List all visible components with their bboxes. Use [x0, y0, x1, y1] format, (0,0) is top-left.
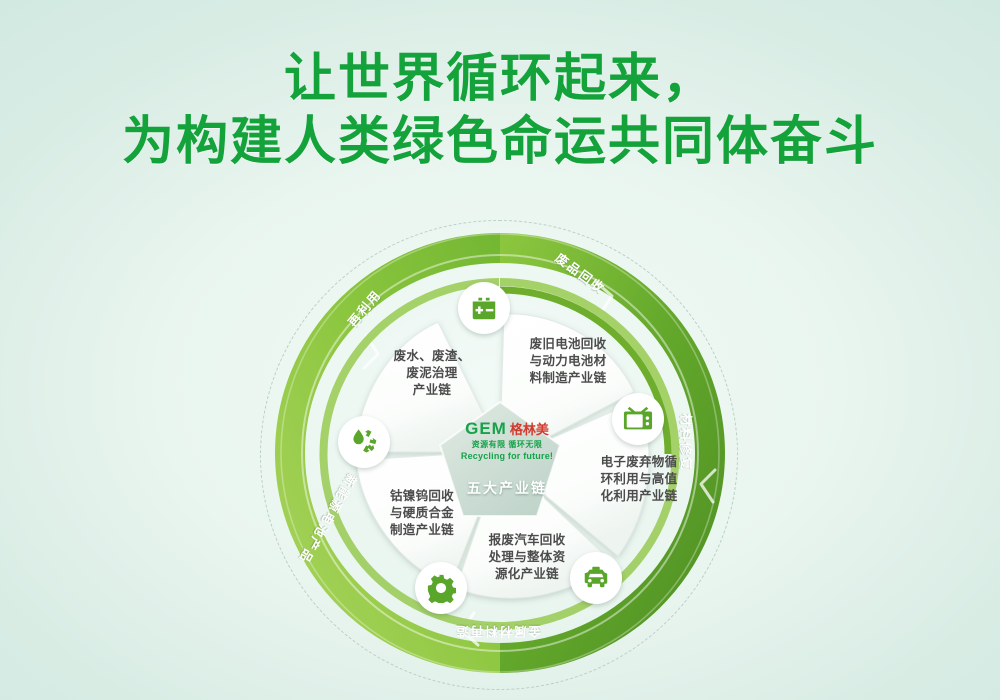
- petal-label-line: 报废汽车回收: [473, 532, 581, 549]
- petal-label-line: 源化产业链: [473, 566, 581, 583]
- petal-label-line: 化利用产业链: [585, 488, 693, 505]
- petal-label-line: 废水、废渣、: [378, 348, 486, 365]
- logo-mark-chinese: 格林美: [510, 422, 549, 437]
- petal-label-line: 与动力电池材: [514, 353, 622, 370]
- car-icon: [581, 563, 611, 593]
- logo-slogan-english: Recycling for future!: [453, 451, 561, 462]
- battery-icon: [469, 293, 499, 323]
- petal-label-line: 环利用与高值: [585, 471, 693, 488]
- petal-label-waste-water: 废水、废渣、 废泥治理 产业链: [378, 348, 486, 399]
- petal-label-battery: 废旧电池回收 与动力电池材 料制造产业链: [514, 336, 622, 387]
- logo-mark-latin: GEM: [465, 419, 507, 438]
- petal-label-line: 与硬质合金: [368, 505, 476, 522]
- poster-canvas: 让世界循环起来， 为构建人类绿色命运共同体奋斗: [0, 0, 1000, 700]
- center-logo: GEM格林美 资源有限 循环无限 Recycling for future!: [453, 420, 561, 462]
- water-recycle-icon: [349, 427, 379, 457]
- title-line-2: 为构建人类绿色命运共同体奋斗: [0, 111, 1000, 174]
- circular-industry-chain-diagram: 废旧电池回收 与动力电池材 料制造产业链 电子废弃物循 环利用与高值 化利用产业…: [260, 220, 740, 690]
- petal-label-line: 废泥治理: [378, 365, 486, 382]
- title-line-1: 让世界循环起来，: [0, 48, 1000, 111]
- icon-bubble-television[interactable]: [612, 393, 664, 445]
- petal-label-line: 制造产业链: [368, 522, 476, 539]
- page-title: 让世界循环起来， 为构建人类绿色命运共同体奋斗: [0, 48, 1000, 175]
- petal-label-line: 产业链: [378, 382, 486, 399]
- center-caption: 五大产业链: [453, 478, 561, 498]
- logo-wordmark: GEM格林美: [453, 420, 561, 439]
- icon-bubble-gear[interactable]: [415, 562, 467, 614]
- icon-bubble-water-recycle[interactable]: [338, 416, 390, 468]
- icon-bubble-battery[interactable]: [458, 282, 510, 334]
- petal-label-vehicle: 报废汽车回收 处理与整体资 源化产业链: [473, 532, 581, 583]
- gear-icon: [426, 573, 456, 603]
- petal-label-line: 废旧电池回收: [514, 336, 622, 353]
- ring-label-material-repair: 材料修复: [678, 413, 697, 471]
- television-icon: [623, 404, 653, 434]
- petal-label-line: 处理与整体资: [473, 549, 581, 566]
- ring-label-metal-remanufacture: 金属材料再造: [454, 623, 541, 642]
- logo-slogan-chinese: 资源有限 循环无限: [453, 440, 561, 450]
- petal-label-line: 料制造产业链: [514, 370, 622, 387]
